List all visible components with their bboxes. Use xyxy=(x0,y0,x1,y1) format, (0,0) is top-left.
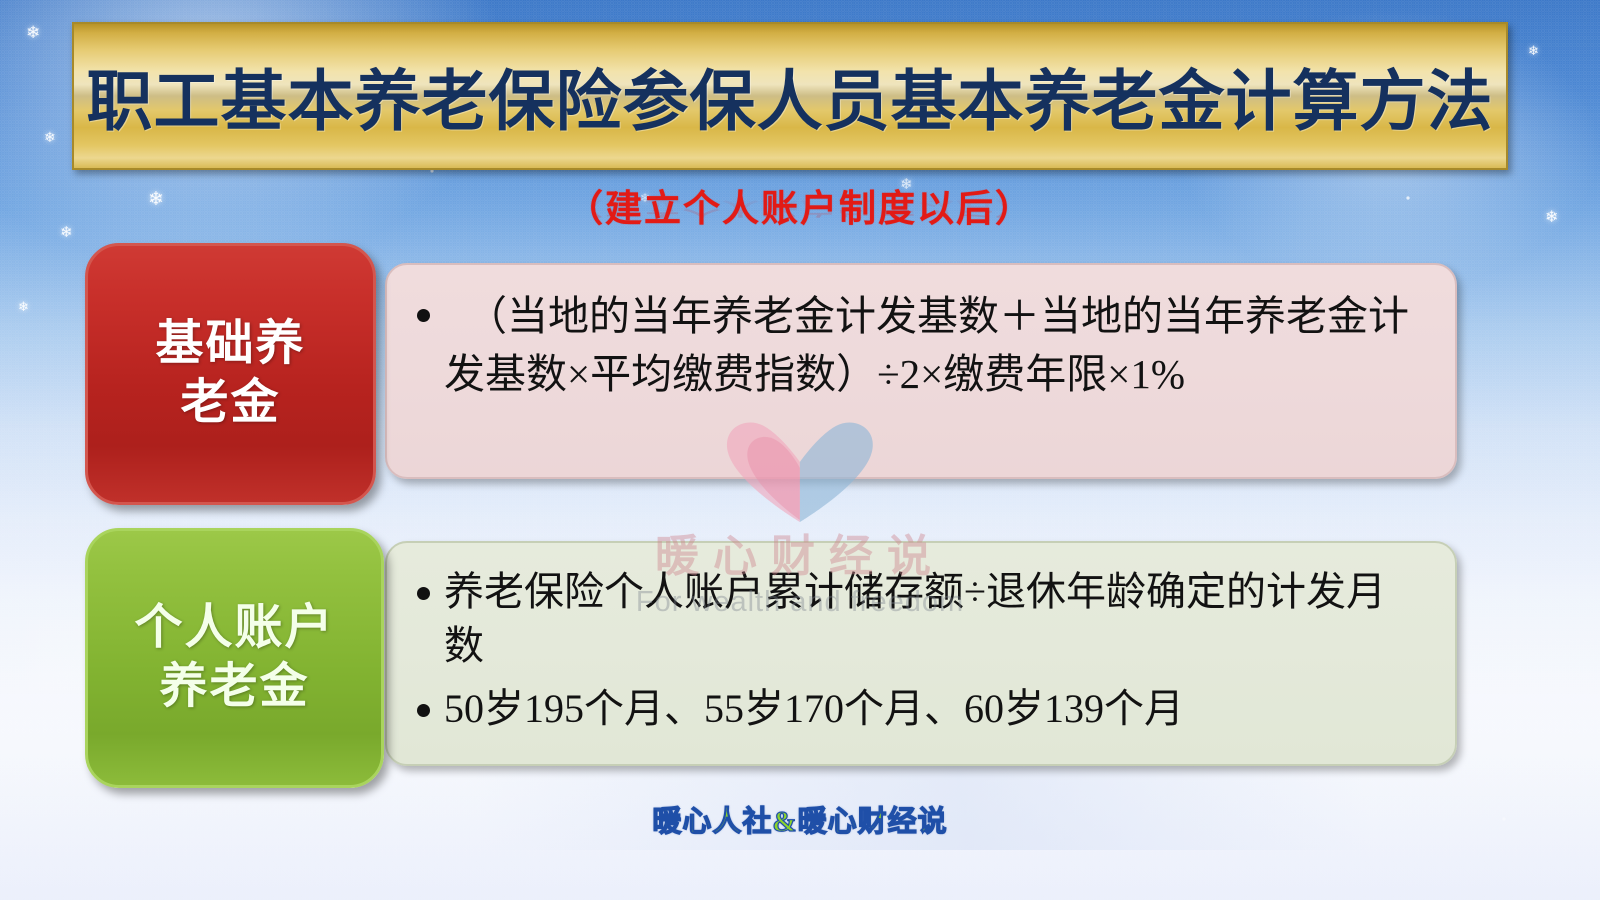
footer-text: 暖心人社&暖心财经说 xyxy=(652,806,947,838)
bullet-dot-icon xyxy=(417,309,430,322)
label-chip-personal-account-pension-text: 个人账户 养老金 xyxy=(134,599,334,716)
subtitle-reflection: （建立个人账户制度以后） xyxy=(0,196,1600,223)
label-chip-basic-pension-text: 基础养 老金 xyxy=(155,315,305,432)
bullet-list-personal-account-pension: 养老保险个人账户累计储存额÷退休年龄确定的计发月数 50岁195个月、55岁17… xyxy=(401,565,1425,736)
snowflake-icon: ❄ xyxy=(1528,44,1539,57)
content-panel-basic-pension: （当地的当年养老金计发基数＋当地的当年养老金计发基数×平均缴费指数）÷2×缴费年… xyxy=(385,263,1457,479)
bullet-dot-icon xyxy=(417,587,430,600)
list-item: （当地的当年养老金计发基数＋当地的当年养老金计发基数×平均缴费指数）÷2×缴费年… xyxy=(401,287,1425,403)
snowflake-icon: ❄ xyxy=(18,300,29,313)
snowflake-icon: ❄ xyxy=(44,132,56,146)
slide-title-bar: 职工基本养老保险参保人员基本养老金计算方法 xyxy=(72,22,1508,170)
snowflake-icon: ❄ xyxy=(1545,210,1558,226)
snowflake-icon: ❄ xyxy=(640,192,650,204)
page-title: 职工基本养老保险参保人员基本养老金计算方法 xyxy=(87,48,1494,144)
content-panel-personal-account-pension: 养老保险个人账户累计储存额÷退休年龄确定的计发月数 50岁195个月、55岁17… xyxy=(385,541,1457,766)
slide-canvas: ❄ ❄ ❄ ❄ ❄ ❄ ❄ ❄ ❄ ❄ ❄ 职工基本养老保险参保人员基本养老金计… xyxy=(0,0,1600,900)
label-chip-personal-account-pension[interactable]: 个人账户 养老金 xyxy=(85,528,384,788)
label-chip-basic-pension[interactable]: 基础养 老金 xyxy=(85,243,376,505)
snowflake-icon: ❄ xyxy=(26,24,40,41)
list-item: 养老保险个人账户累计储存额÷退休年龄确定的计发月数 xyxy=(401,565,1425,672)
footer: 暖心人社&暖心财经说 xyxy=(0,798,1600,840)
list-item-text: 50岁195个月、55岁170个月、60岁139个月 xyxy=(444,682,1425,736)
subtitle: （建立个人账户制度以后） xyxy=(566,178,1034,232)
bullet-dot-icon xyxy=(417,704,430,717)
snowflake-icon: ❄ xyxy=(900,178,913,193)
bullet-list-basic-pension: （当地的当年养老金计发基数＋当地的当年养老金计发基数×平均缴费指数）÷2×缴费年… xyxy=(401,287,1425,403)
list-item-text: 养老保险个人账户累计储存额÷退休年龄确定的计发月数 xyxy=(444,565,1425,672)
snowflake-icon: ❄ xyxy=(148,190,164,209)
list-item-text: （当地的当年养老金计发基数＋当地的当年养老金计发基数×平均缴费指数）÷2×缴费年… xyxy=(444,287,1425,403)
snowflake-icon: ❄ xyxy=(60,226,73,241)
list-item: 50岁195个月、55岁170个月、60岁139个月 xyxy=(401,682,1425,736)
